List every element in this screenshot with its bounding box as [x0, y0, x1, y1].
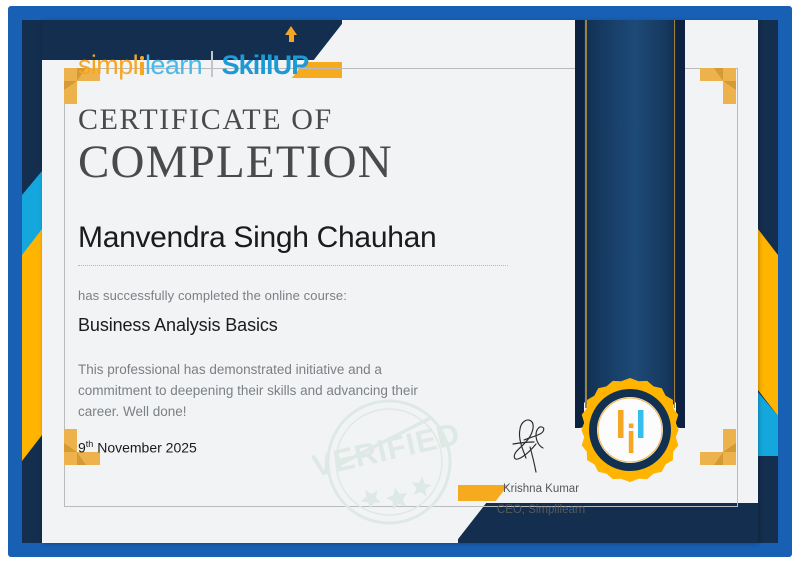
signature-block: Krishna Kumar CEO, Simplilearn — [466, 414, 616, 516]
certificate-content: simpl learn SkillUP CERTIFICATE OF COMPL… — [78, 48, 548, 455]
signatory-name: Krishna Kumar — [466, 483, 616, 495]
up-arrow-icon — [285, 26, 297, 35]
issue-date-day: 9 — [78, 439, 86, 455]
right-orange-band — [758, 255, 778, 390]
course-intro-text: has successfully completed the online co… — [78, 288, 548, 303]
handwritten-signature-icon — [466, 414, 616, 476]
logo-skillup-text: SkillUP — [222, 50, 309, 81]
certificate-title-line1: CERTIFICATE OF — [78, 104, 548, 136]
left-orange-band — [22, 255, 42, 435]
recipient-name: Manvendra Singh Chauhan — [78, 221, 548, 265]
corner-ornament-top-right-icon — [700, 68, 736, 104]
right-cyan-band — [758, 416, 778, 456]
logo-divider — [211, 51, 213, 77]
corner-ornament-bottom-right-icon — [700, 429, 736, 465]
certificate-title-line2: COMPLETION — [78, 138, 548, 187]
logo-skill-text: Skill — [222, 50, 273, 80]
logo-i-mark-icon — [138, 73, 145, 74]
logo-simpl-text: simpl — [78, 50, 138, 81]
logo-learn-text: learn — [145, 50, 202, 81]
issue-date-month-year: November 2025 — [97, 439, 197, 455]
signatory-role: CEO, Simplilearn — [466, 504, 616, 516]
certificate-page: VERIFIED — [42, 20, 758, 543]
certificate-document: VERIFIED — [0, 0, 800, 565]
logo-up-text: UP — [273, 50, 309, 80]
recipient-underline — [78, 265, 508, 266]
simplilearn-skillup-logo: simpl learn SkillUP — [78, 48, 548, 82]
course-title: Business Analysis Basics — [78, 315, 548, 336]
issue-date-suffix: th — [86, 439, 94, 449]
achievement-blurb: This professional has demonstrated initi… — [78, 360, 430, 423]
